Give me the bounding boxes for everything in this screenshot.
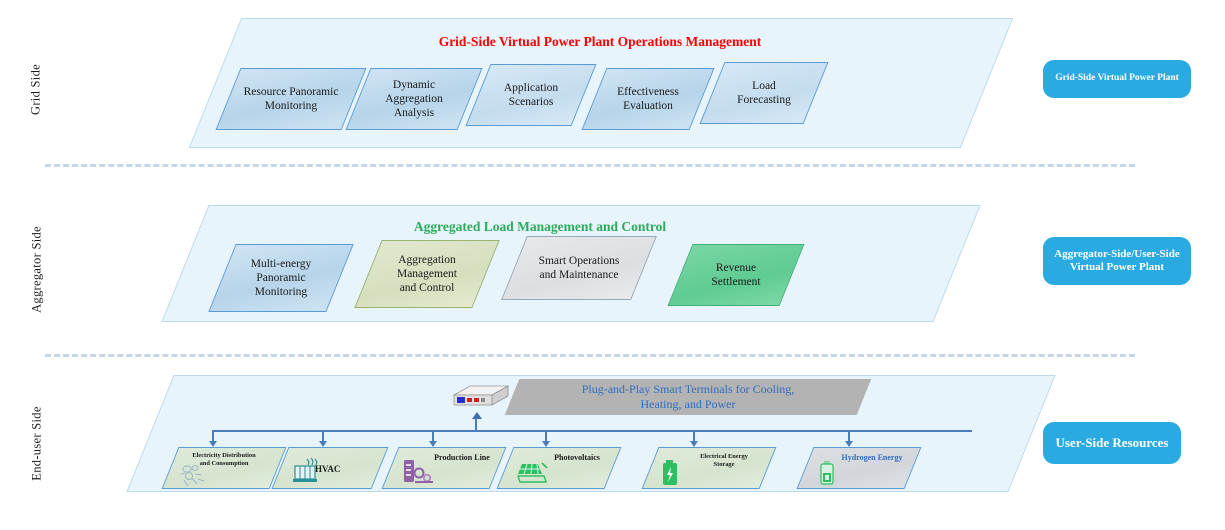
band-title-aggregator: Aggregated Load Management and Control [330, 219, 750, 235]
node-label: HVAC [315, 464, 375, 475]
side-label-aggregator: Aggregator Side [30, 225, 45, 315]
side-label-grid: Grid Side [29, 50, 44, 130]
card-label: Resource Panoramic Monitoring [222, 85, 361, 113]
card-label: Smart Operations and Maintenance [507, 254, 650, 282]
card-label: Load Forecasting [707, 79, 821, 107]
connector-bus [212, 430, 972, 432]
separator-grid-aggregator [45, 164, 1135, 167]
card-label: Multi-energy Panoramic Monitoring [216, 257, 346, 299]
gateway-device-icon [450, 383, 510, 411]
arrow-up-to-gateway [472, 412, 482, 419]
badge-grid-side-vpp[interactable]: Grid-Side Virtual Power Plant [1043, 60, 1191, 98]
card-label: Application Scenarios [473, 81, 589, 109]
node-hvac[interactable]: HVAC [272, 447, 389, 489]
badge-user-side-resources[interactable]: User-Side Resources [1043, 422, 1181, 464]
node-electrical-energy-storage[interactable]: Electrical Energy Storage [642, 447, 777, 489]
diagram-canvas: Grid Side Aggregator Side End-user Side … [0, 0, 1225, 530]
hydrogen-energy-icon [818, 460, 840, 488]
node-label: Electrical Energy Storage [683, 453, 765, 469]
card-label: Revenue Settlement [674, 261, 797, 289]
badge-aggregator-user-side-vpp[interactable]: Aggregator-Side/User-Side Virtual Power … [1043, 237, 1191, 285]
separator-aggregator-enduser [45, 354, 1135, 357]
node-label: Production Line [427, 453, 497, 463]
card-smart-operations-and-maintenance[interactable]: Smart Operations and Maintenance [501, 236, 657, 300]
card-label: Dynamic Aggregation Analysis [352, 78, 475, 120]
node-electricity-distribution-and-consumption[interactable]: Electricity Distribution and Consumption [162, 447, 287, 489]
card-resource-panoramic-monitoring[interactable]: Resource Panoramic Monitoring [215, 68, 366, 130]
plug-and-play-banner: Plug-and-Play Smart Terminals for Coolin… [505, 379, 872, 415]
node-label: Hydrogen Energy [834, 453, 910, 463]
production-line-icon [401, 458, 435, 486]
node-label: Photovoltaics [542, 453, 612, 463]
side-label-enduser: End-user Side [30, 399, 45, 489]
battery-storage-icon [661, 458, 685, 488]
node-photovoltaics[interactable]: Photovoltaics [497, 447, 622, 489]
hvac-icon [291, 457, 321, 485]
card-label: Aggregation Management and Control [362, 253, 492, 295]
card-label: Effectiveness Evaluation [589, 85, 708, 113]
node-hydrogen-energy[interactable]: Hydrogen Energy [797, 447, 922, 489]
electricity-sketch-icon [179, 462, 209, 488]
band-title-grid: Grid-Side Virtual Power Plant Operations… [350, 34, 850, 50]
banner-label: Plug-and-Play Smart Terminals for Coolin… [498, 382, 878, 412]
photovoltaics-icon [516, 460, 552, 486]
node-production-line[interactable]: Production Line [382, 447, 507, 489]
